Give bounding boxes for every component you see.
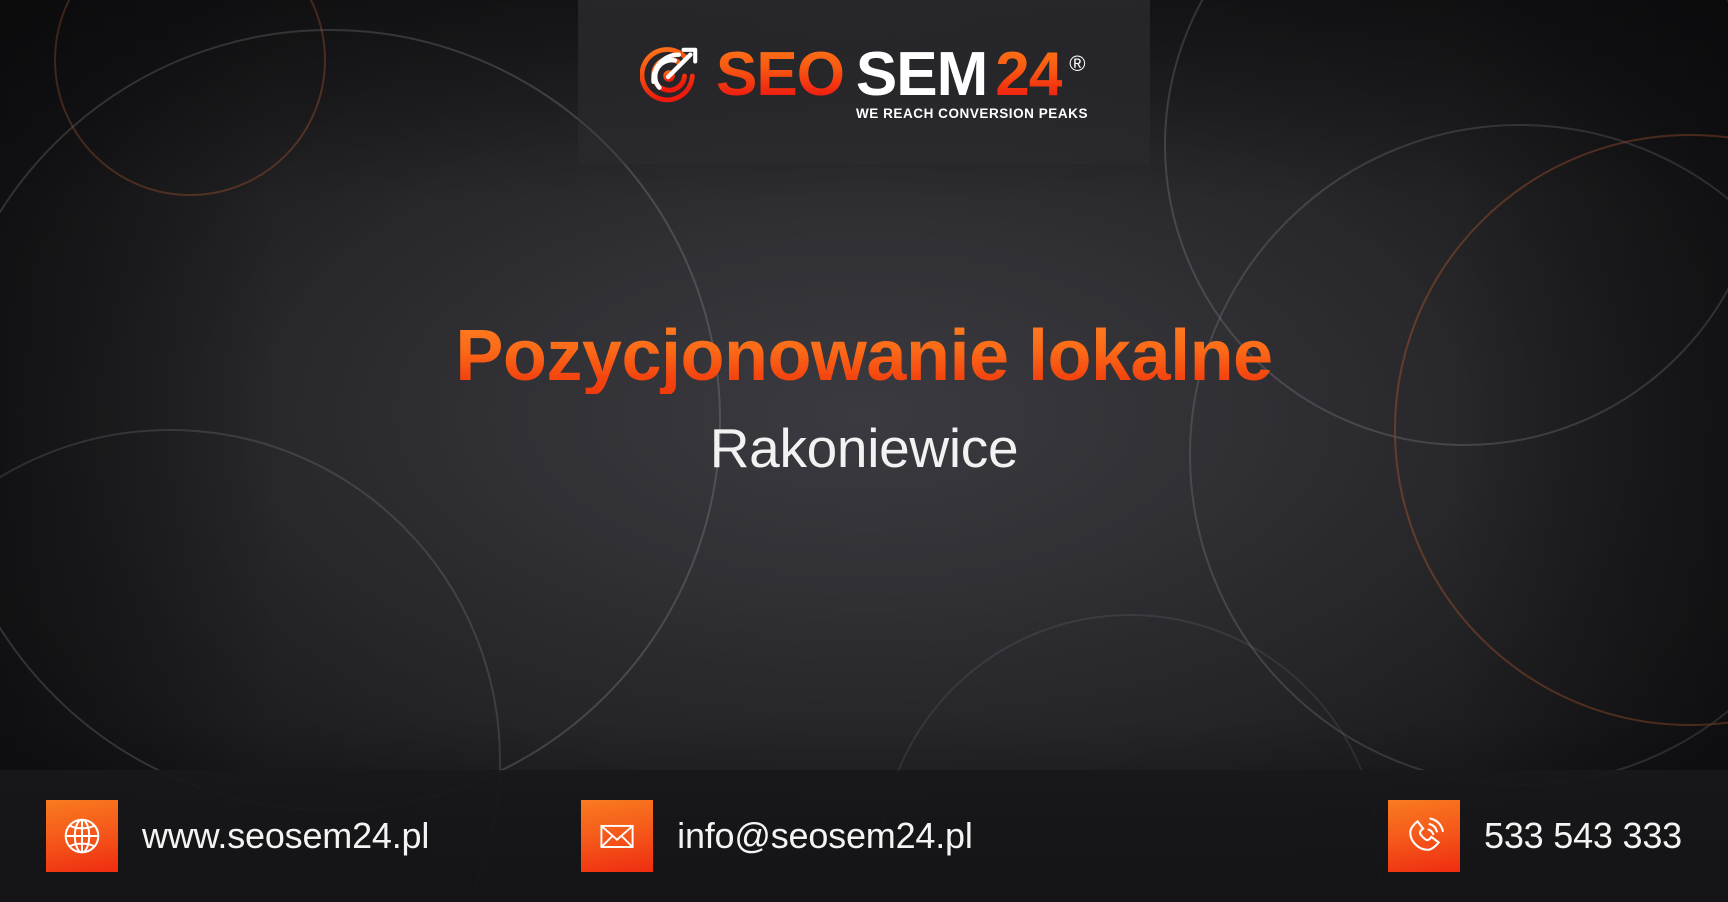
logo-24-text: 24 [995,39,1062,110]
logo-wordmark: SEO SEM 24 ® WE REACH CONVERSION PEAKS [716,39,1088,121]
brand-logo: SEO SEM 24 ® WE REACH CONVERSION PEAKS [640,39,1088,121]
email-label: info@seosem24.pl [677,815,973,857]
target-arrow-icon [640,45,702,107]
logo-seo-text: SEO [716,39,844,110]
logo-tagline: WE REACH CONVERSION PEAKS [856,106,1088,121]
envelope-icon [581,800,653,872]
contact-website[interactable]: www.seosem24.pl [46,800,429,872]
phone-label: 533 543 333 [1484,815,1682,857]
registered-mark-icon: ® [1069,51,1085,77]
headline-block: Pozycjonowanie lokalne Rakoniewice [0,318,1728,480]
contact-phone[interactable]: 533 543 333 [1388,800,1682,872]
contact-email[interactable]: info@seosem24.pl [581,800,973,872]
footer-bar: www.seosem24.pl info@seosem24.pl [0,770,1728,902]
logo-sem-text: SEM [856,39,987,110]
logo-panel: SEO SEM 24 ® WE REACH CONVERSION PEAKS [578,0,1150,164]
phone-icon [1388,800,1460,872]
website-label: www.seosem24.pl [142,815,429,857]
page-subtitle: Rakoniewice [0,416,1728,480]
page-title: Pozycjonowanie lokalne [0,318,1728,394]
slide-canvas: SEO SEM 24 ® WE REACH CONVERSION PEAKS P… [0,0,1728,902]
globe-icon [46,800,118,872]
